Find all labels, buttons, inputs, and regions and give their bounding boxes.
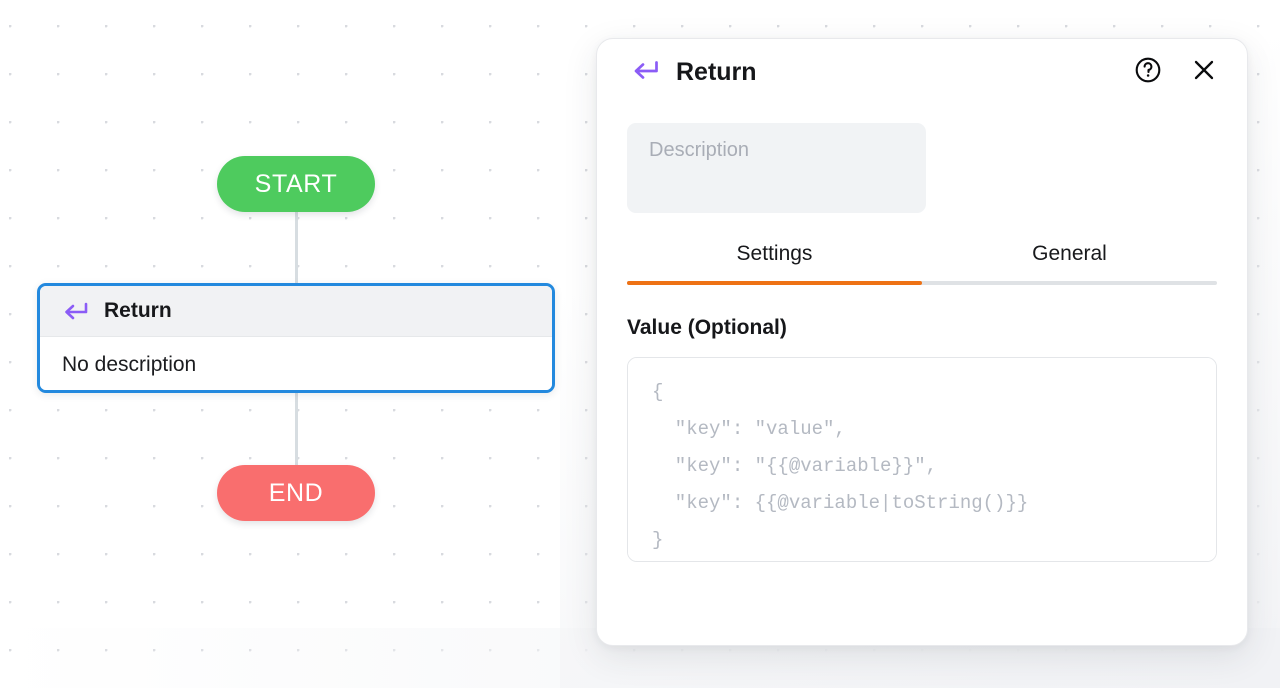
value-field-label: Value (Optional) <box>627 316 1217 340</box>
help-button[interactable] <box>1131 55 1165 89</box>
node-start[interactable]: START <box>217 156 375 212</box>
node-return-body: No description <box>40 337 552 393</box>
node-start-label: START <box>255 170 338 199</box>
return-arrow-icon <box>60 301 88 321</box>
close-button[interactable] <box>1187 55 1221 89</box>
connector-return-to-end <box>295 386 298 476</box>
back-button[interactable] <box>629 57 659 87</box>
value-input[interactable] <box>627 357 1217 562</box>
tab-settings[interactable]: Settings <box>627 242 922 281</box>
return-arrow-icon <box>629 59 659 86</box>
node-return-title: Return <box>104 299 172 323</box>
panel-header: Return <box>597 39 1247 105</box>
tab-underline-active <box>627 281 922 285</box>
help-circle-icon <box>1134 56 1162 89</box>
description-input[interactable] <box>627 123 926 213</box>
node-end[interactable]: END <box>217 465 375 521</box>
tab-underline-track <box>627 281 1217 285</box>
panel-title: Return <box>676 58 1131 87</box>
tab-general[interactable]: General <box>922 242 1217 281</box>
panel-tabs: Settings General <box>627 242 1217 281</box>
node-return-header: Return <box>40 286 552 337</box>
close-icon <box>1191 57 1217 88</box>
node-return-description: No description <box>62 353 196 377</box>
node-return[interactable]: Return No description <box>37 283 555 393</box>
node-settings-panel: Return Setting <box>596 38 1248 646</box>
app-root: START Return No description END <box>0 0 1280 688</box>
node-end-label: END <box>269 479 324 508</box>
